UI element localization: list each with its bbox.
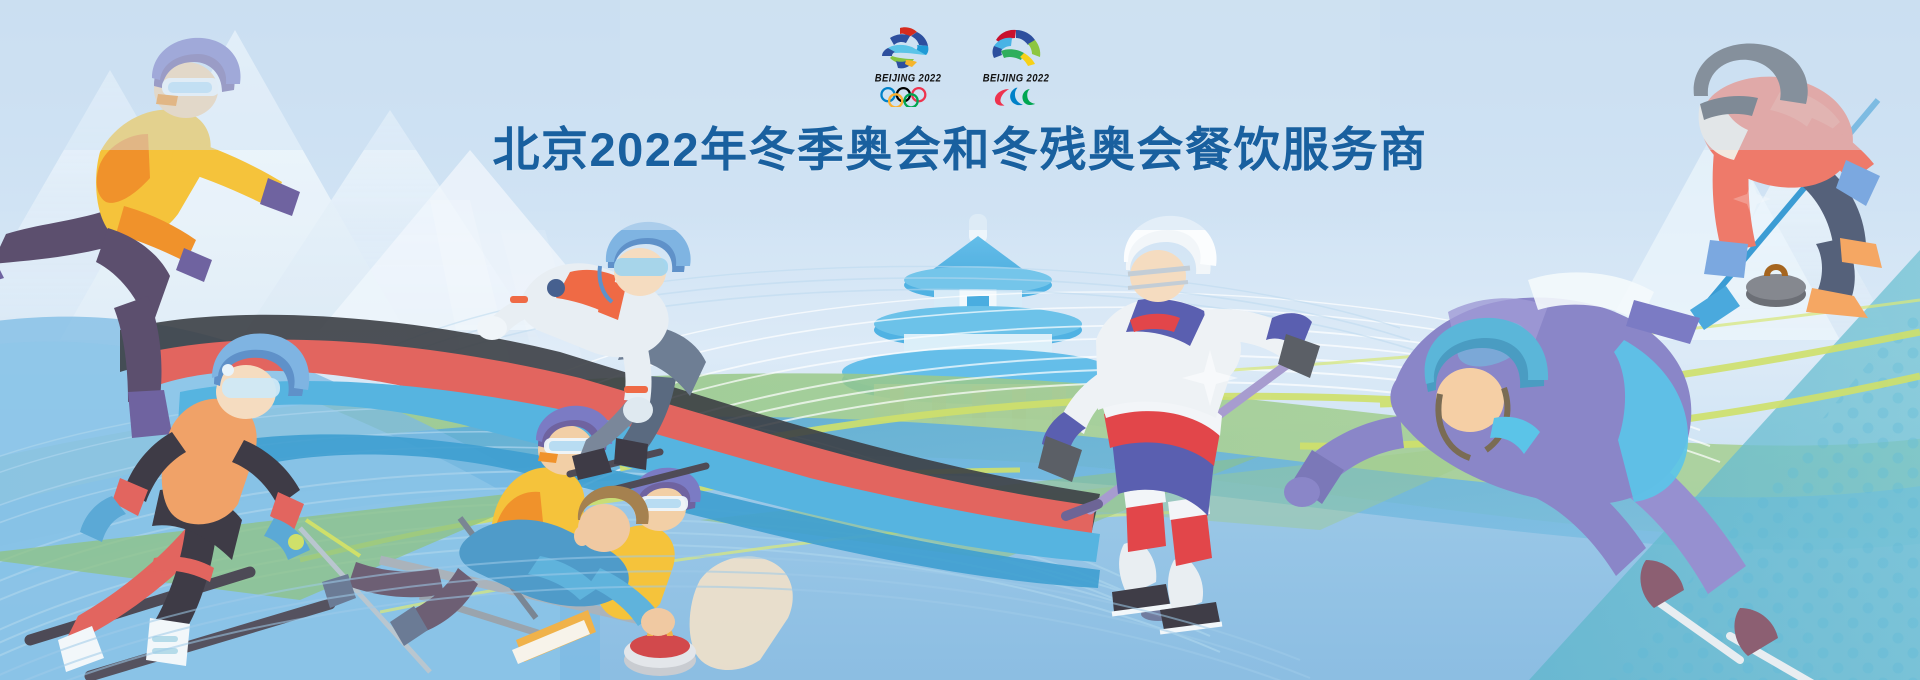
games-logos: BEIJING 2022 BEIJIN [862,24,1062,120]
olympic-logo: BEIJING 2022 [862,24,954,107]
banner-title: 北京2022年冬季奥会和冬残奥会餐饮服务商 [0,124,1920,176]
olympic-wordmark: BEIJING 2022 [875,72,942,84]
beijing-2022-paralympic-emblem-icon [984,24,1048,70]
beijing-2022-catering-banner: BEIJING 2022 BEIJIN [0,0,1920,680]
paralympic-wordmark: BEIJING 2022 [983,72,1050,84]
beijing-2022-olympic-emblem-icon [876,24,940,70]
paralympic-logo: BEIJING 2022 [970,24,1062,107]
paralympic-agitos-icon [986,87,1046,107]
olympic-rings-icon [878,87,938,107]
